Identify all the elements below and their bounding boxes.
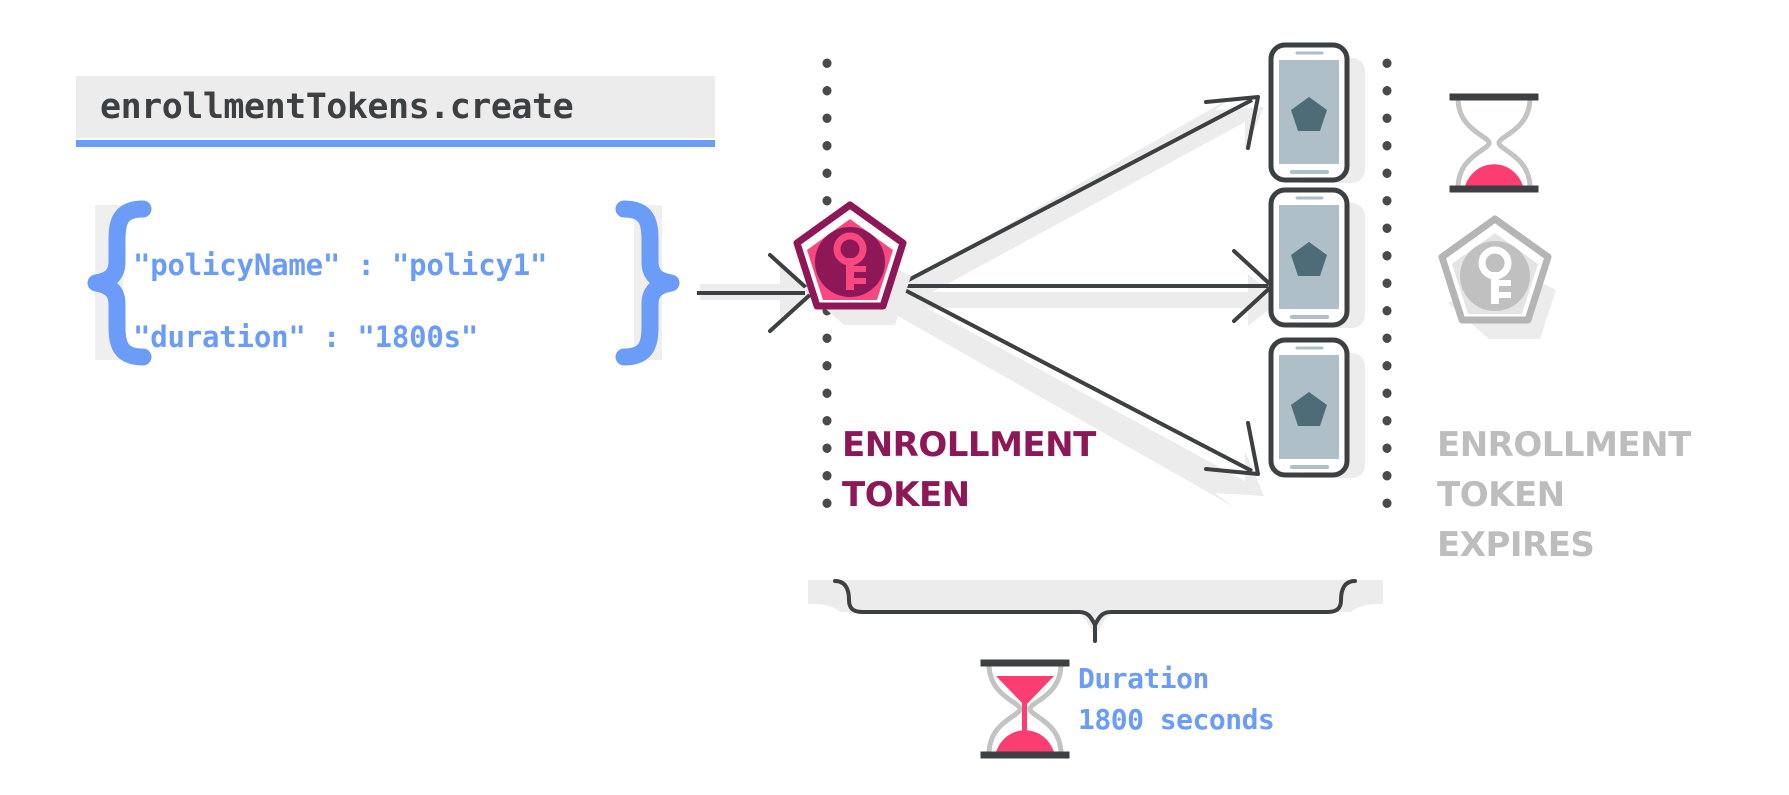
hourglass-empty-icon	[1453, 97, 1535, 189]
diagram-vector-layer	[0, 0, 1789, 795]
pentagon-key-token-icon	[797, 205, 911, 325]
json-brace-right	[624, 209, 671, 357]
duration-brace	[808, 580, 1383, 641]
device-list	[1271, 45, 1365, 478]
list-item	[1271, 340, 1365, 478]
list-item	[1271, 190, 1365, 328]
request-arrow	[697, 255, 813, 331]
list-item	[1271, 45, 1365, 183]
json-brace-left	[96, 209, 143, 357]
token-distribution-arrows	[896, 96, 1281, 507]
diagram-canvas: enrollmentTokens.create "policyName" : "…	[0, 0, 1789, 795]
hourglass-running-icon	[984, 663, 1066, 755]
pentagon-key-token-disabled-icon	[1442, 219, 1556, 339]
